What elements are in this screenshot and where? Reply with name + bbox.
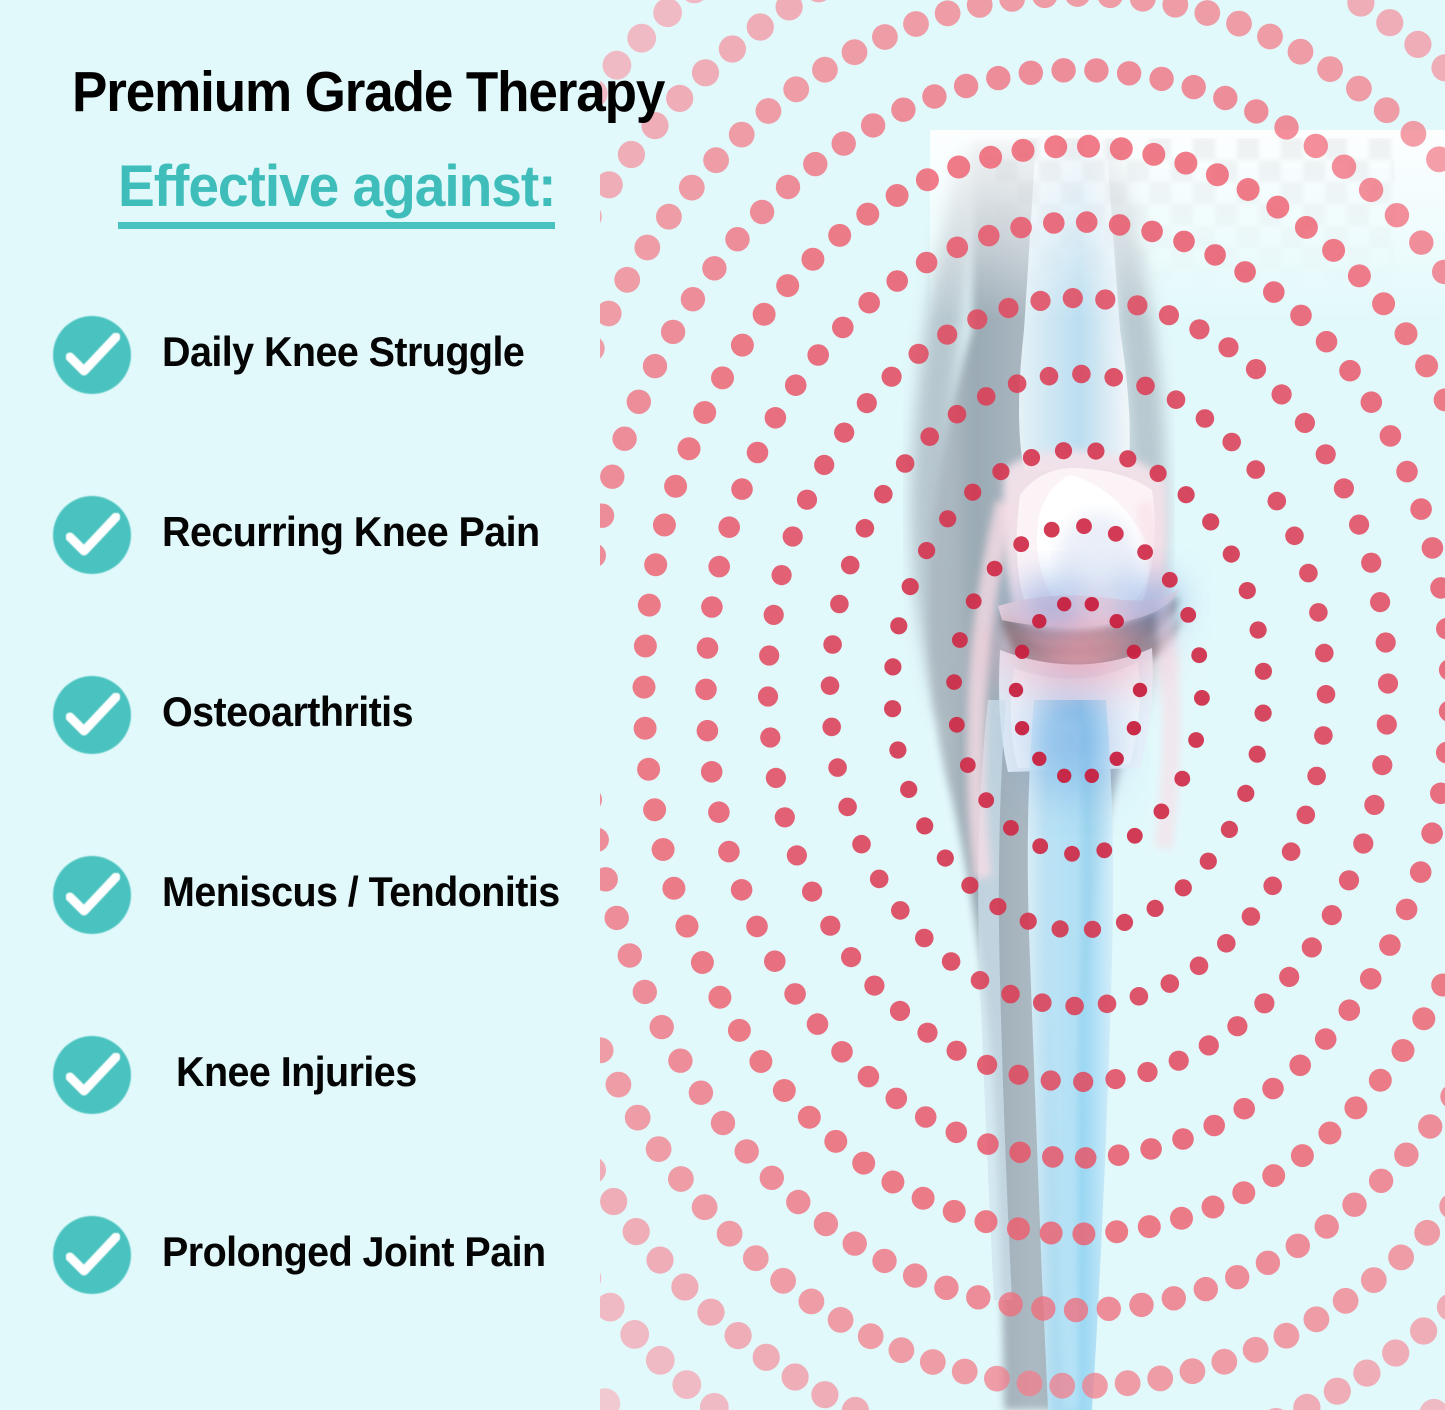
pain-dot (1138, 1215, 1161, 1238)
pain-dot (692, 59, 719, 86)
pain-dot (1372, 292, 1395, 315)
pain-dot (949, 717, 965, 733)
pain-dot (1285, 527, 1304, 546)
pain-dot (1159, 305, 1179, 325)
list-item[interactable]: Knee Injuries (0, 1036, 720, 1216)
pain-dot (1221, 821, 1238, 838)
pain-dot (1020, 913, 1037, 930)
pain-dot (743, 1245, 769, 1271)
pain-dot (1162, 1286, 1186, 1310)
pain-dot (937, 850, 954, 867)
pain-dot (1434, 388, 1445, 411)
pain-dot (947, 1041, 967, 1061)
pain-dot (1175, 879, 1192, 896)
pain-dot (975, 1210, 998, 1233)
list-item[interactable]: Recurring Knee Pain (0, 496, 720, 676)
pain-dot (872, 1249, 896, 1273)
pain-dot (1041, 1070, 1061, 1090)
pain-dot (1257, 24, 1283, 50)
pain-dot (797, 490, 817, 510)
pain-dot (784, 983, 806, 1005)
pain-dot (1032, 0, 1058, 8)
pain-dot (1161, 974, 1180, 993)
pain-dot (824, 1130, 847, 1153)
pain-dot (766, 768, 786, 788)
pain-dot (922, 84, 946, 108)
pain-dot (725, 1322, 752, 1349)
pain-dot (1012, 139, 1035, 162)
pain-dot (986, 66, 1010, 90)
pain-dot (1290, 305, 1312, 327)
pain-dot (765, 407, 787, 429)
pain-dot (902, 578, 919, 595)
pain-dot (872, 24, 898, 50)
pain-dot (886, 184, 909, 207)
pain-dot (1420, 1399, 1445, 1410)
list-item[interactable]: Osteoarthritis (0, 676, 720, 856)
pain-dot (1057, 769, 1071, 783)
pain-dot (1315, 1028, 1337, 1050)
pain-dot (1127, 721, 1141, 735)
subtitle-effective-against: Effective against: (118, 158, 555, 229)
pain-dot (1127, 645, 1141, 659)
pain-dot (759, 645, 779, 665)
pain-dot (1288, 39, 1314, 65)
pain-dot (909, 344, 929, 364)
pain-dot (992, 463, 1009, 480)
pain-dot (1127, 295, 1147, 315)
pain-dot (1085, 769, 1099, 783)
check-glyph (66, 1233, 120, 1277)
pain-dot (1052, 920, 1069, 937)
pain-dot (1239, 582, 1256, 599)
pain-dot (1206, 163, 1229, 186)
pain-dot (960, 757, 976, 773)
pain-dot (1116, 914, 1133, 931)
pain-dot (1001, 985, 1020, 1004)
pain-dot (915, 929, 934, 948)
pain-dot (920, 427, 939, 446)
pain-dot (1353, 833, 1373, 853)
pain-dot (618, 141, 645, 168)
pain-dot (1243, 1337, 1269, 1363)
pain-dot (1380, 425, 1402, 447)
pain-dot (1119, 450, 1136, 467)
check-circle-icon (53, 316, 131, 394)
pain-dot (890, 617, 907, 634)
list-item-label: Meniscus / Tendonitis (162, 868, 560, 916)
pain-dot (1302, 937, 1322, 957)
pain-dot (803, 152, 827, 176)
pain-dot (1044, 135, 1067, 158)
pain-dot (998, 298, 1018, 318)
pain-dot (946, 674, 962, 690)
pain-dot (1043, 212, 1065, 234)
pain-dot (886, 1088, 908, 1110)
pain-dot (1105, 1069, 1125, 1089)
pain-dot (1075, 1147, 1097, 1169)
pain-dot (1073, 1072, 1093, 1092)
pain-dot (870, 870, 889, 889)
pain-dot (1072, 1222, 1095, 1245)
list-item[interactable]: Prolonged Joint Pain (0, 1216, 720, 1396)
pain-dot (900, 781, 917, 798)
pain-dot (1031, 1296, 1055, 1320)
pain-dot (952, 632, 968, 648)
pain-dot (1064, 846, 1080, 862)
pain-dot (1147, 900, 1164, 917)
pain-dot (1430, 577, 1445, 599)
pain-dot (1003, 820, 1019, 836)
pain-dot (1360, 968, 1382, 990)
pain-dot (1244, 99, 1268, 123)
pain-dot (787, 845, 807, 865)
pain-dot (1127, 828, 1143, 844)
pain-dot (1217, 934, 1236, 953)
pain-dot (1439, 701, 1445, 723)
pain-dot (916, 817, 933, 834)
pain-dot (891, 901, 910, 920)
list-item-label: Daily Knee Struggle (162, 328, 524, 376)
pain-dot (947, 156, 970, 179)
pain-dot (1262, 1164, 1285, 1187)
pain-dot (881, 1171, 904, 1194)
pain-dot (747, 13, 774, 40)
pain-dot (1076, 211, 1098, 233)
pain-dot (1295, 216, 1318, 239)
pain-dot (1227, 1016, 1247, 1036)
pain-dot (1117, 61, 1141, 85)
pain-dot (1032, 752, 1046, 766)
pain-dot (977, 1055, 997, 1075)
pain-dot (1266, 196, 1289, 219)
check-circle-icon (53, 1216, 131, 1294)
pain-dot (717, 1221, 743, 1247)
pain-dot (1332, 155, 1356, 179)
pain-dot (1318, 1122, 1341, 1145)
pain-dot (1242, 907, 1261, 926)
pain-dot (1293, 1394, 1320, 1410)
pain-dot (756, 98, 782, 124)
pain-dot (858, 1323, 884, 1349)
pain-dot (1108, 526, 1124, 542)
pain-dot (666, 85, 693, 112)
pain-dot (1382, 1339, 1409, 1366)
pain-dot (749, 1050, 772, 1073)
pain-dot (772, 565, 792, 585)
pain-dot (1315, 1214, 1339, 1238)
pain-dot (1137, 544, 1153, 560)
pain-dot (1008, 374, 1027, 393)
pain-dot (1344, 1096, 1367, 1119)
pain-dot (1172, 1128, 1194, 1150)
pain-dot (1097, 0, 1123, 8)
pain-dot (1202, 1196, 1225, 1219)
pain-dot (1317, 56, 1343, 82)
pain-dot (1255, 663, 1272, 680)
pain-dot (841, 556, 860, 575)
pain-dot (680, 0, 709, 3)
pain-dot (1211, 1349, 1237, 1375)
pain-dot (1255, 705, 1272, 722)
pain-dot (1286, 1234, 1310, 1258)
pain-dot (942, 952, 961, 971)
pain-dot (1349, 515, 1369, 535)
pain-dot (1333, 1288, 1359, 1314)
pain-dot (801, 248, 824, 271)
pain-dot (842, 39, 868, 65)
pain-dot (776, 175, 800, 199)
pain-dot (1199, 1035, 1219, 1055)
pain-dot (1274, 115, 1298, 139)
pain-dot (1009, 1065, 1029, 1085)
pain-dot (718, 841, 740, 863)
pain-dot (1084, 921, 1101, 938)
pain-dot (1297, 806, 1316, 825)
pain-dot (916, 252, 938, 274)
pain-dot (822, 718, 841, 737)
pain-dot (799, 1289, 825, 1315)
pain-dot (1436, 618, 1445, 640)
pain-dot (1426, 146, 1445, 172)
check-circle-icon (53, 1036, 131, 1114)
pain-dot (786, 1190, 810, 1214)
pain-dot (889, 1337, 915, 1363)
pain-dot (967, 0, 993, 18)
pain-dot (1222, 433, 1241, 452)
pain-dot (1130, 987, 1149, 1006)
pain-dot (998, 1292, 1022, 1316)
pain-dot (1379, 934, 1401, 956)
pain-dot (1409, 230, 1433, 254)
pain-dot (884, 658, 901, 675)
pain-dot (1254, 993, 1274, 1013)
pain-dot (1274, 1323, 1300, 1349)
pain-dot (1430, 783, 1445, 805)
pain-dot (802, 882, 822, 902)
pain-dot (915, 1106, 937, 1128)
pain-dot (1314, 726, 1333, 745)
pain-dot (1182, 75, 1206, 99)
pain-dot (764, 605, 784, 625)
pain-dot (1194, 0, 1220, 26)
check-glyph (66, 1053, 120, 1097)
pain-dot (912, 1187, 935, 1210)
pain-dot (864, 976, 884, 996)
pain-dot (1084, 58, 1108, 82)
pain-dot (1291, 1144, 1314, 1167)
pain-dot (903, 11, 929, 37)
pain-dot (1410, 498, 1432, 520)
list-item-label: Osteoarthritis (162, 688, 413, 736)
pain-dot (842, 1397, 869, 1410)
pain-dot (811, 1381, 838, 1408)
list-item-label: Knee Injuries (176, 1048, 417, 1096)
pain-dot (1147, 1366, 1173, 1392)
pain-dot (1097, 1297, 1121, 1321)
pain-dot (830, 595, 849, 614)
pain-dot (1085, 597, 1099, 611)
pain-dot (782, 1363, 809, 1390)
pain-dot (1055, 442, 1072, 459)
pain-dot (1342, 1193, 1366, 1217)
pain-dot (1410, 861, 1432, 883)
pain-dot (1432, 260, 1445, 284)
pain-dot (987, 561, 1003, 577)
pain-dot (896, 454, 915, 473)
pain-dot (1190, 957, 1209, 976)
pain-dot (856, 519, 875, 538)
pain-dot (1180, 607, 1196, 623)
pain-dot (1404, 31, 1431, 58)
pain-dot (1415, 354, 1438, 377)
pain-dot (889, 741, 906, 758)
pain-dot (989, 898, 1006, 915)
pain-dot (1395, 322, 1418, 345)
pain-dot (1376, 632, 1396, 652)
pain-dot (814, 455, 834, 475)
pain-dot (979, 146, 1002, 169)
pain-dot (1369, 1169, 1393, 1193)
pain-dot (1105, 1220, 1128, 1243)
pain-dot (1150, 465, 1167, 482)
pain-dot (977, 1133, 999, 1155)
pain-dot (1361, 553, 1381, 573)
pain-dot (1282, 842, 1301, 861)
pain-dot (1095, 289, 1115, 309)
pain-dot (964, 484, 981, 501)
pain-dot (1040, 1222, 1063, 1245)
pain-dot (1359, 178, 1383, 202)
pain-dot (1364, 795, 1384, 815)
pain-dot (1237, 785, 1254, 802)
pain-dot (916, 168, 939, 191)
pain-dot (858, 292, 880, 314)
pain-dot (1063, 288, 1083, 308)
pain-dot (821, 676, 840, 695)
pain-dot (814, 1212, 838, 1236)
pain-dot (903, 1263, 927, 1287)
pain-dot (1304, 134, 1328, 158)
pain-dot (1180, 1358, 1206, 1384)
pain-dot (1137, 1062, 1157, 1082)
pain-dot (1225, 1265, 1249, 1289)
pain-dot (807, 1013, 829, 1035)
pain-dot (1044, 522, 1060, 538)
pain-dot (977, 387, 996, 406)
pain-dot (1189, 319, 1209, 339)
pain-dot (1203, 1115, 1225, 1137)
pain-dot (1317, 685, 1336, 704)
pain-dot (1376, 9, 1403, 36)
pain-dot (1316, 331, 1338, 353)
pain-dot (760, 1166, 784, 1190)
pain-dot (776, 274, 799, 297)
pain-dot (735, 1139, 759, 1163)
pain-dot (1396, 461, 1418, 483)
pain-dot (1030, 291, 1050, 311)
list-item[interactable]: Meniscus / Tendonitis (0, 856, 720, 1036)
pain-dot (1010, 217, 1032, 239)
pain-dot (1104, 368, 1123, 387)
pain-dot (1346, 76, 1372, 102)
pain-dot (1316, 444, 1336, 464)
pain-dot (984, 1366, 1010, 1392)
pain-dot (1279, 967, 1299, 987)
pain-dot (874, 485, 893, 504)
pain-dot (1191, 647, 1207, 663)
pain-dot (1309, 603, 1328, 622)
pain-dot (1234, 261, 1256, 283)
pain-dot (1174, 152, 1197, 175)
pain-dot (1162, 572, 1178, 588)
pain-dot (886, 270, 908, 292)
pain-dot (1421, 822, 1443, 844)
pain-dot (852, 1152, 875, 1175)
pain-dot (1414, 1220, 1440, 1246)
pain-dot (1200, 853, 1217, 870)
pain-dot (653, 0, 682, 27)
pain-dot (807, 344, 829, 366)
pain-dot (1347, 0, 1374, 17)
pain-dot (747, 442, 769, 464)
pain-dot (1162, 0, 1188, 18)
pain-dot (1130, 0, 1156, 12)
pain-dot (1170, 1207, 1193, 1230)
pain-dot (1087, 443, 1104, 460)
pain-dot (834, 423, 854, 443)
pain-dot (1173, 231, 1195, 253)
pain-dot (1149, 67, 1173, 91)
pain-dot (1226, 11, 1252, 37)
pain-dot (1174, 771, 1190, 787)
list-item[interactable]: Daily Knee Struggle (0, 316, 720, 496)
pain-dot (1110, 752, 1124, 766)
pain-dot (1262, 1078, 1284, 1100)
pain-dot (1108, 1144, 1130, 1166)
pain-dot (1110, 137, 1133, 160)
pain-dot (1369, 1069, 1392, 1092)
pain-dot (812, 57, 838, 83)
pain-dot (934, 1276, 958, 1300)
pain-dot (1431, 54, 1445, 81)
pain-dot (1339, 360, 1361, 382)
pain-dot (1249, 746, 1266, 763)
pain-dot (1057, 597, 1071, 611)
pain-dot (857, 393, 877, 413)
pain-dot (1169, 1051, 1189, 1071)
check-glyph (66, 333, 120, 377)
pain-dot (1065, 0, 1091, 7)
pain-dot (1077, 135, 1100, 158)
benefit-checklist: Daily Knee StruggleRecurring Knee PainOs… (0, 316, 720, 1396)
pain-dot (1246, 460, 1265, 479)
pain-dot (627, 24, 656, 53)
pain-dot (1140, 1138, 1162, 1160)
pain-dot (946, 1122, 968, 1144)
pain-dot (841, 947, 861, 967)
pain-dot (1013, 536, 1029, 552)
pain-dot (838, 798, 857, 817)
pain-dot (948, 405, 967, 424)
pain-dot (729, 122, 755, 148)
pain-dot (783, 526, 803, 546)
pain-dot (1167, 390, 1186, 409)
pain-dot (1418, 1114, 1442, 1138)
pain-dot (1372, 755, 1392, 775)
pain-dot (1422, 537, 1444, 559)
pain-dot (1115, 1370, 1141, 1396)
